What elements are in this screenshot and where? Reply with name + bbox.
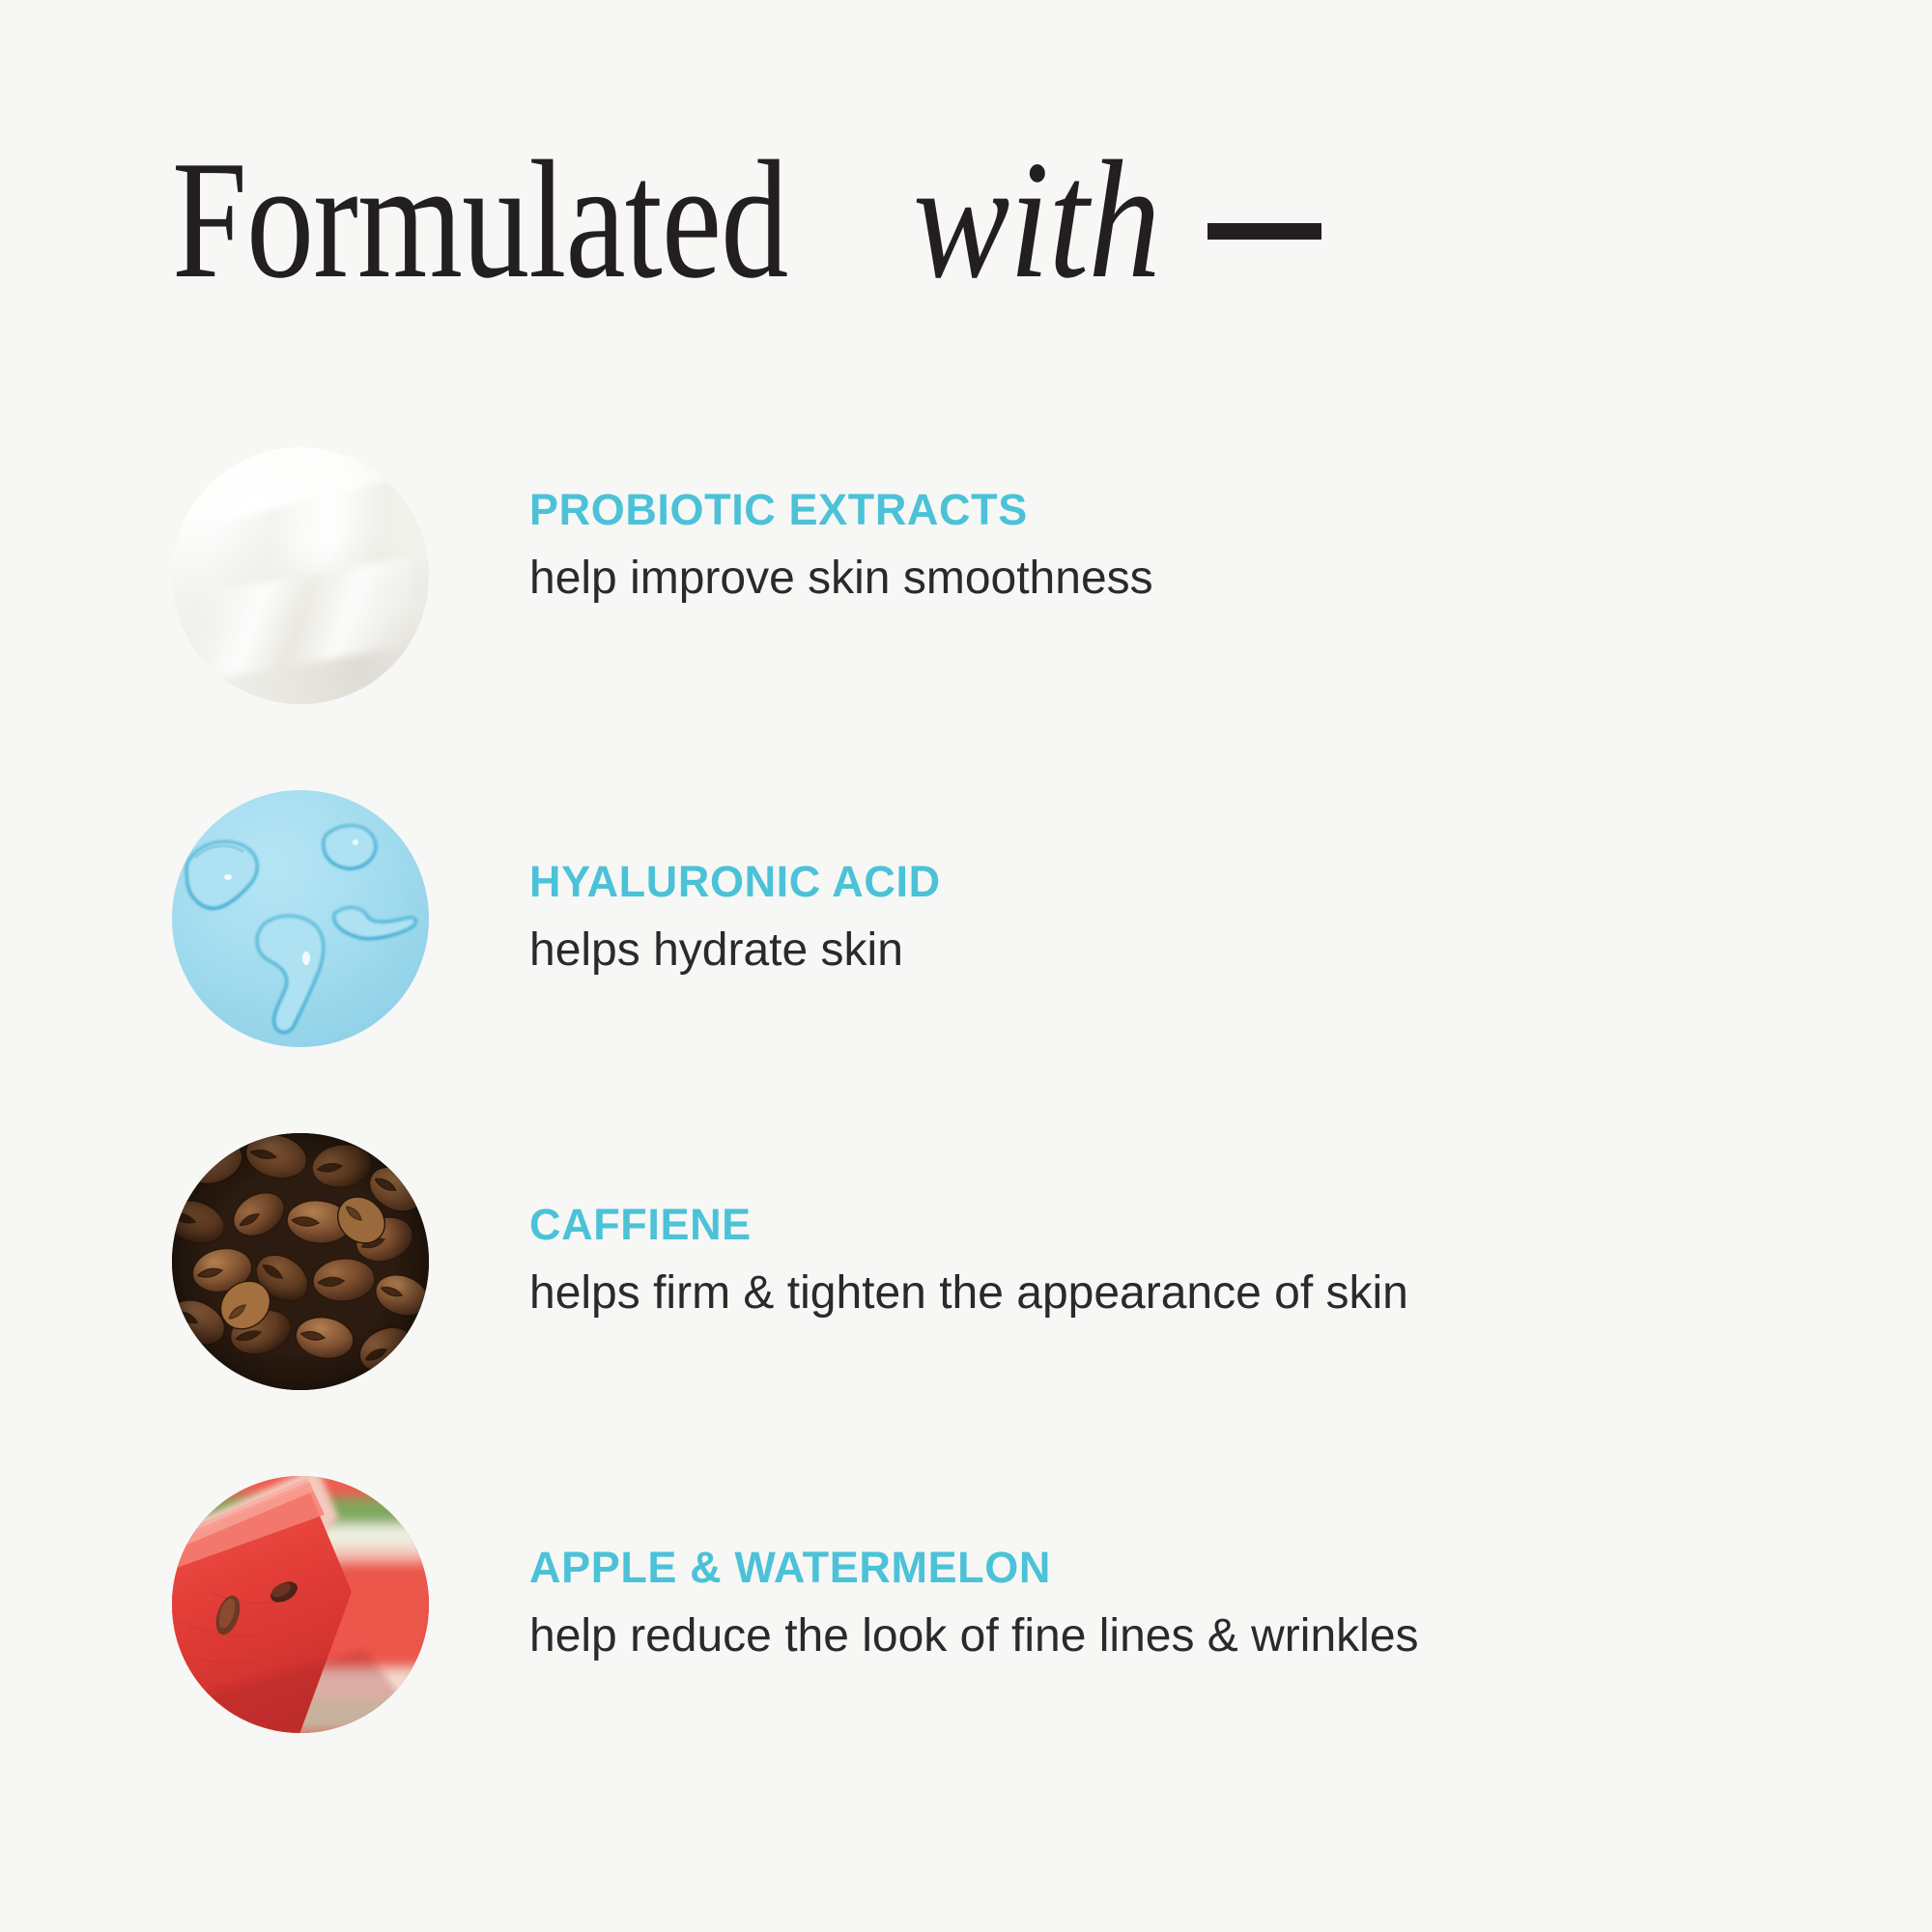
ingredient-text: APPLE & WATERMELON help reduce the look … <box>529 1542 1785 1666</box>
gel-droplets-art <box>172 790 429 1047</box>
ingredient-row: APPLE & WATERMELON help reduce the look … <box>0 1476 1932 1733</box>
formulated-with-infographic: Formulatedwith PROBIOTIC EXTRACTS help i… <box>0 0 1932 1932</box>
coffee-beans-art <box>172 1133 429 1390</box>
ingredient-name: CAFFIENE <box>529 1199 1785 1250</box>
ingredient-name: APPLE & WATERMELON <box>529 1542 1785 1593</box>
ingredient-description: help improve skin smoothness <box>529 549 1785 608</box>
page-title-roman: Formulated <box>172 135 787 304</box>
watermelon-slice-swatch <box>172 1476 429 1733</box>
watermelon-art <box>172 1476 429 1733</box>
ingredient-name: HYALURONIC ACID <box>529 856 1785 907</box>
coffee-beans-swatch <box>172 1133 429 1390</box>
cream-dollop-swatch <box>172 447 429 704</box>
ingredient-name: PROBIOTIC EXTRACTS <box>529 484 1785 535</box>
ingredient-text: CAFFIENE helps firm & tighten the appear… <box>529 1199 1785 1323</box>
page-title-italic: with <box>913 135 1160 304</box>
ingredient-text: HYALURONIC ACID helps hydrate skin <box>529 856 1785 980</box>
cream-shading <box>172 447 429 704</box>
ingredient-description: helps firm & tighten the appearance of s… <box>529 1264 1785 1322</box>
ingredient-description: helps hydrate skin <box>529 921 1785 980</box>
em-dash-rule <box>1207 223 1321 240</box>
ingredient-row: HYALURONIC ACID helps hydrate skin <box>0 790 1932 1047</box>
ingredient-row: CAFFIENE helps firm & tighten the appear… <box>0 1133 1932 1390</box>
blue-gel-serum-swatch <box>172 790 429 1047</box>
page-title: Formulatedwith <box>172 135 1321 304</box>
ingredient-description: help reduce the look of fine lines & wri… <box>529 1606 1785 1665</box>
ingredient-text: PROBIOTIC EXTRACTS help improve skin smo… <box>529 484 1785 609</box>
ingredient-row: PROBIOTIC EXTRACTS help improve skin smo… <box>0 447 1932 704</box>
